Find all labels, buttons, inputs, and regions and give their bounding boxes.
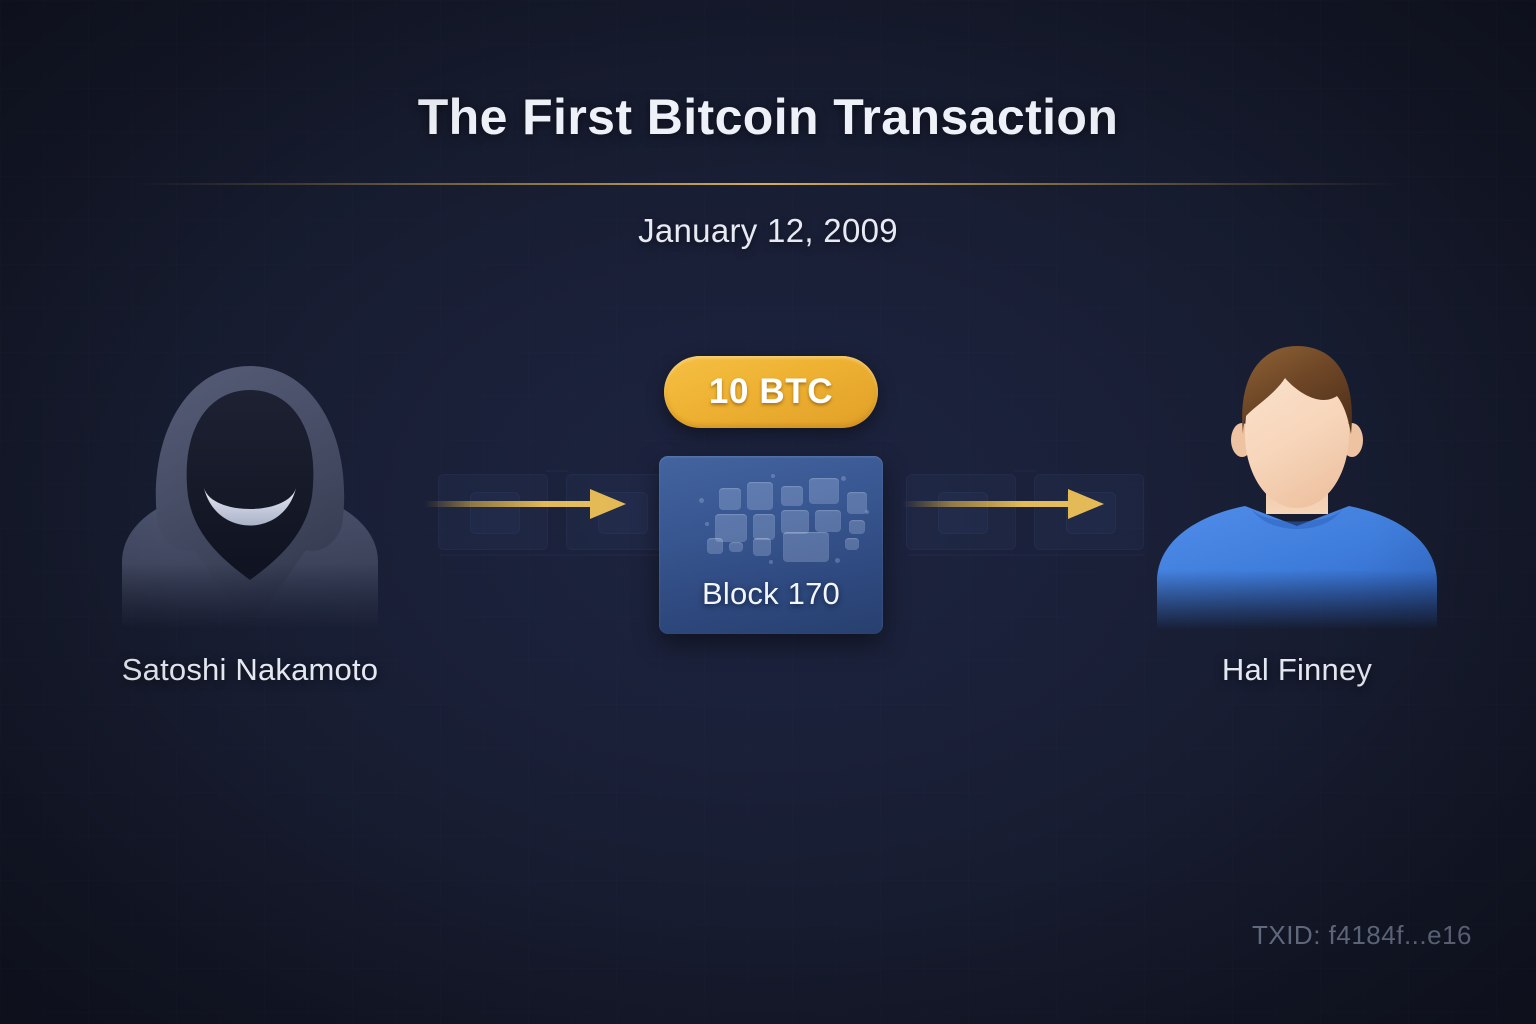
page-title: The First Bitcoin Transaction: [0, 88, 1536, 146]
txid-label: TXID: f4184f...e16: [1252, 920, 1472, 951]
hooded-anonymous-figure-icon: [80, 330, 420, 630]
btc-amount-badge[interactable]: 10 BTC: [664, 356, 878, 428]
page-subtitle-date: January 12, 2009: [0, 212, 1536, 250]
block-cubes-icon: [659, 466, 883, 570]
arrow-block-to-receiver-icon: [902, 480, 1106, 528]
btc-amount-label: 10 BTC: [709, 372, 833, 412]
person-avatar-icon: [1127, 330, 1467, 630]
sender-name-label: Satoshi Nakamoto: [50, 652, 450, 688]
receiver-name-label: Hal Finney: [1097, 652, 1497, 688]
arrow-sender-to-block-icon: [424, 480, 628, 528]
gold-divider: [135, 183, 1401, 185]
infographic-canvas: The First Bitcoin Transaction January 12…: [0, 0, 1536, 1024]
block-label: Block 170: [659, 576, 883, 612]
block-card[interactable]: Block 170: [659, 456, 883, 634]
